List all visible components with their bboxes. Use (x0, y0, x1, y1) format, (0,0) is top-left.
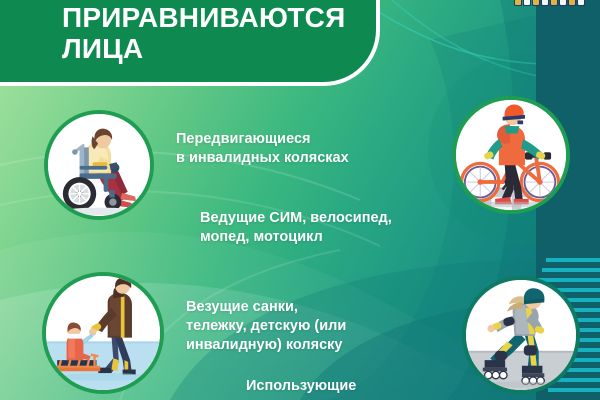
item-label-rollers: Использующие (246, 377, 506, 396)
page-title: ПРИРАВНИВАЮТСЯ ЛИЦА (62, 2, 392, 64)
item-label-bicycle: Ведущие СИМ, велосипед, мопед, мотоцикл (200, 209, 460, 247)
watermark-logo-icon (514, 0, 588, 8)
illustration-wheelchair-user (44, 110, 154, 220)
item-label-wheelchair: Передвигающиеся в инвалидных колясках (176, 130, 426, 168)
illustration-cyclist-with-bicycle (452, 96, 570, 214)
item-label-sled: Везущие санки, тележку, детскую (или инв… (186, 298, 451, 355)
illustration-adult-pulling-child-sled (42, 272, 164, 394)
infographic-poster: ПРИРАВНИВАЮТСЯ ЛИЦА (0, 0, 600, 400)
